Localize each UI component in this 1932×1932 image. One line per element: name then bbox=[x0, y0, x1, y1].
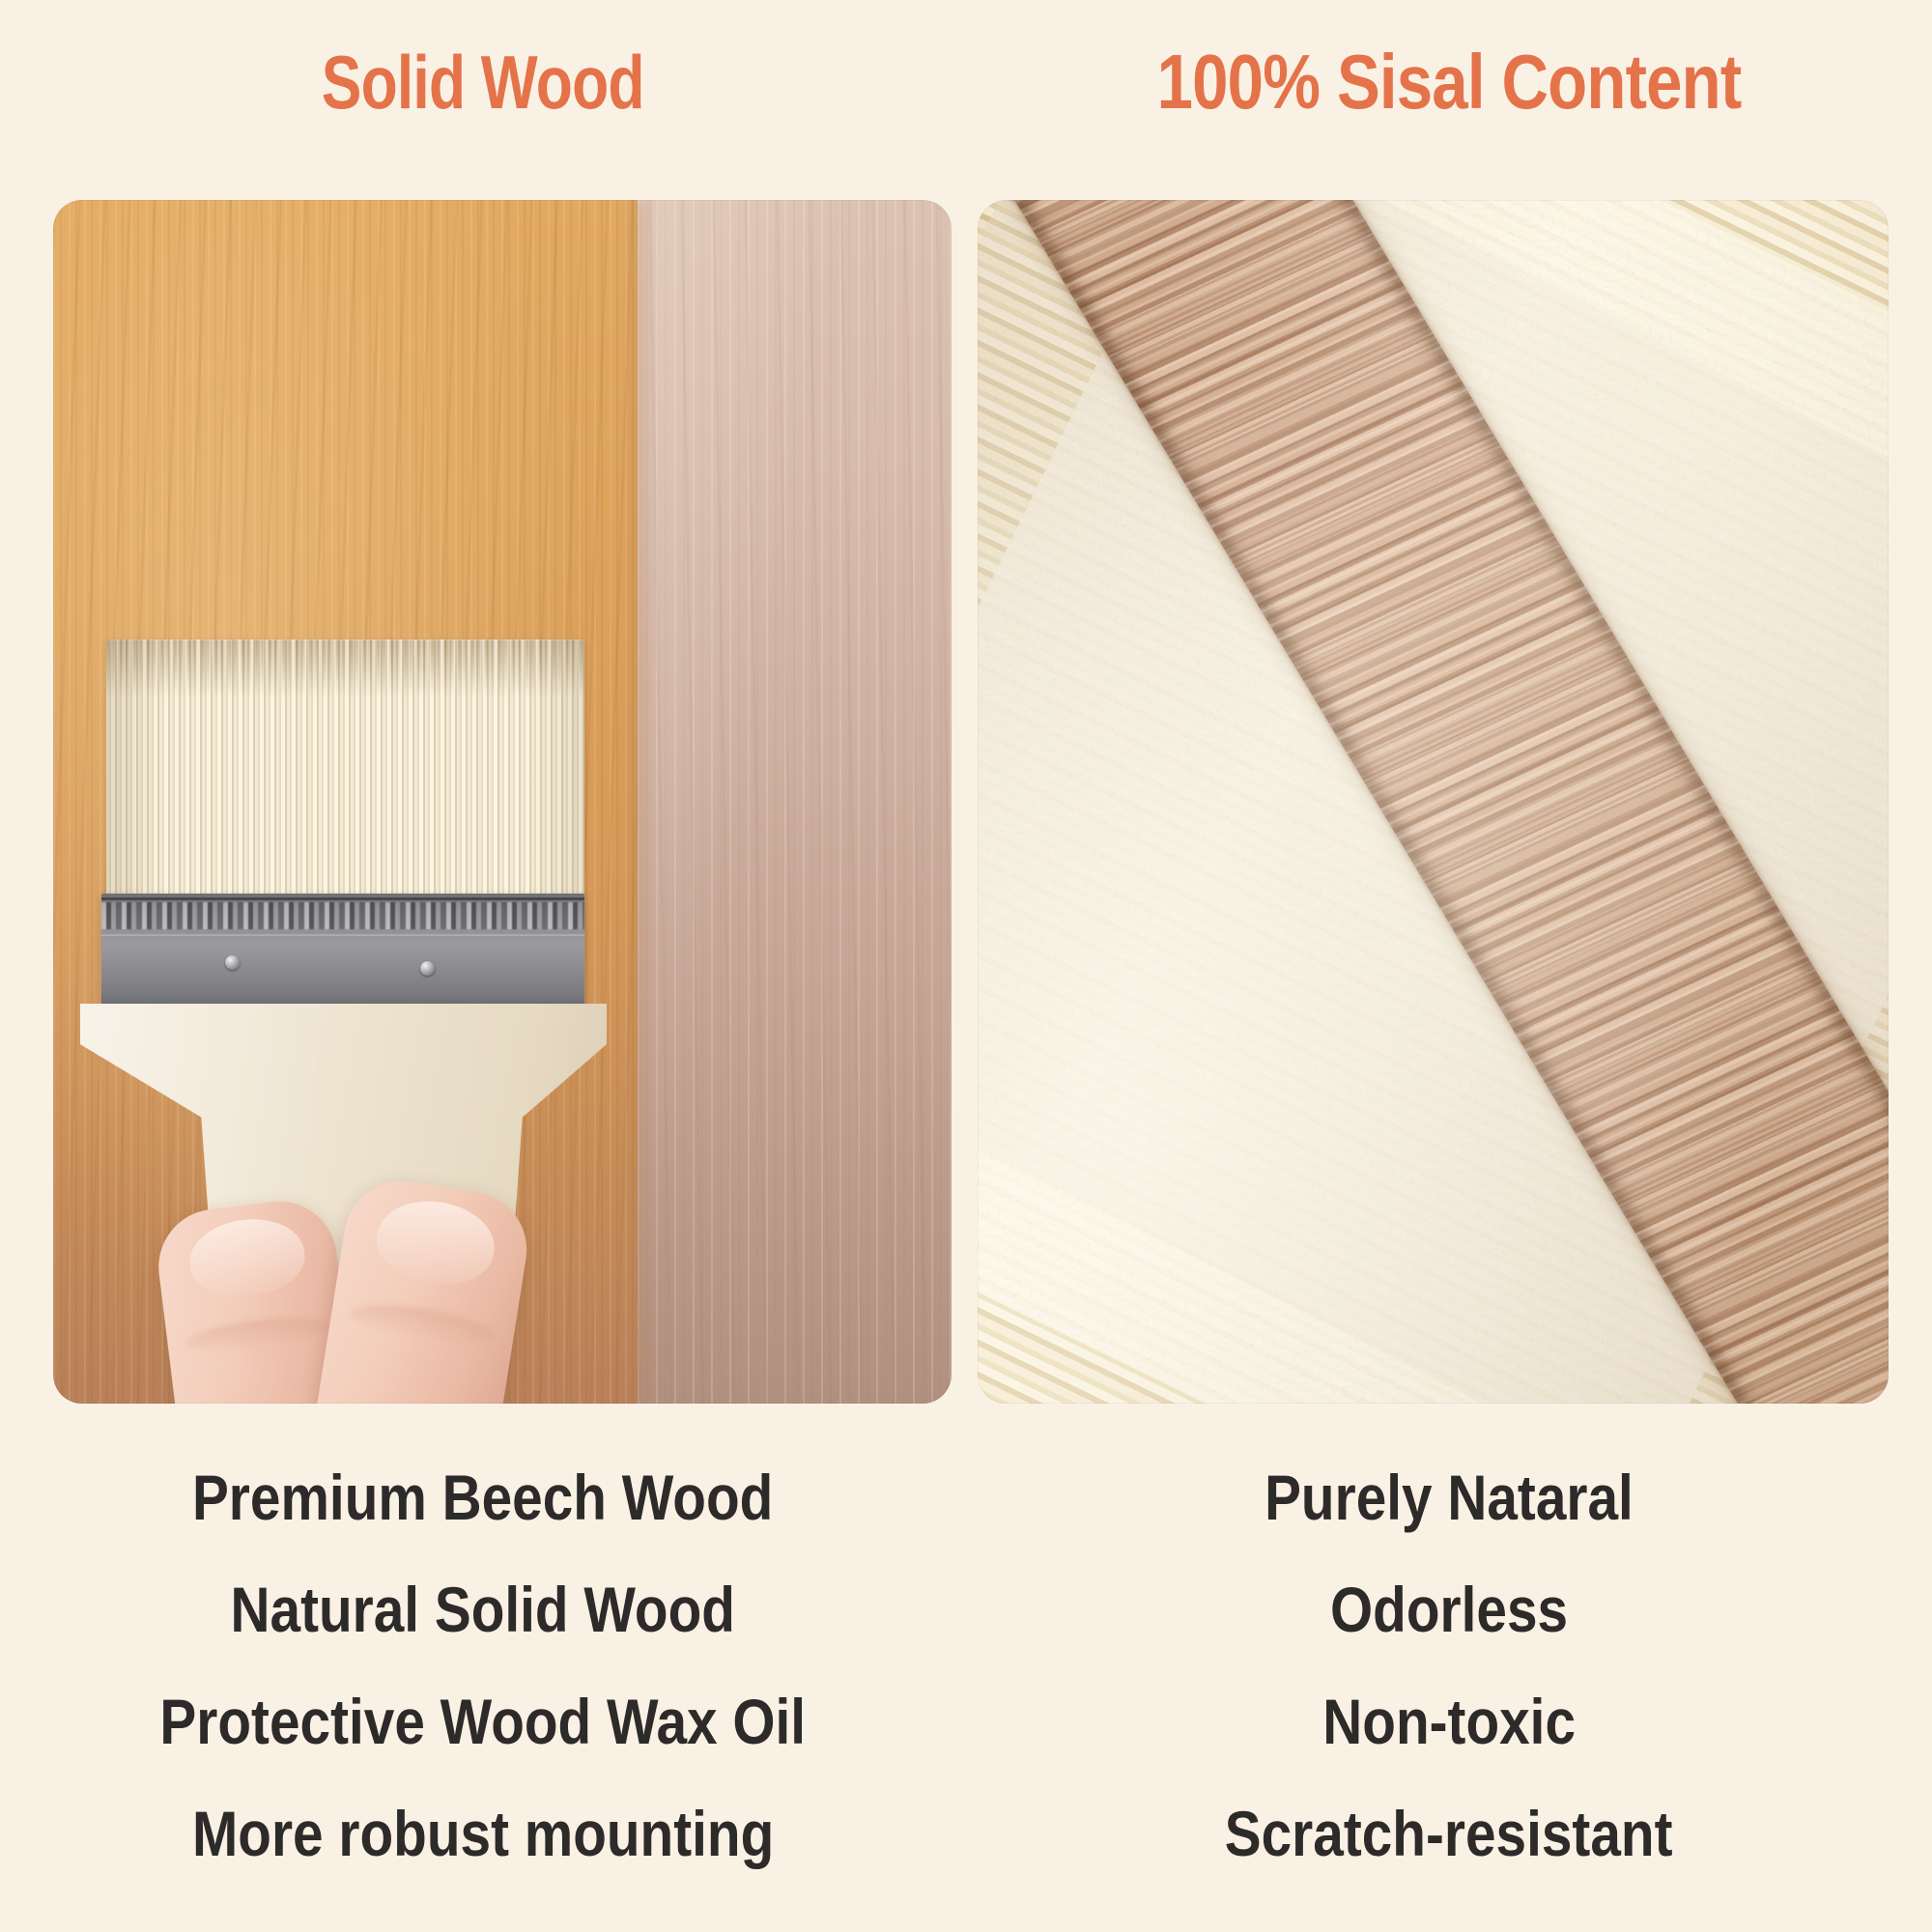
brush-ferrule bbox=[101, 894, 584, 1008]
heading-solid-wood: Solid Wood bbox=[322, 44, 644, 120]
fingernail bbox=[371, 1193, 499, 1291]
feature-item: More robust mounting bbox=[192, 1777, 774, 1889]
ferrule-top-line bbox=[101, 897, 584, 900]
sisal-lighting-overlay bbox=[978, 200, 1889, 1404]
bristle-shading bbox=[106, 639, 584, 895]
fingernail bbox=[185, 1213, 308, 1302]
ferrule-crimp-texture bbox=[101, 902, 584, 929]
sisal-photo-stage bbox=[978, 200, 1889, 1404]
ferrule-rivet-left bbox=[225, 955, 240, 970]
feature-item: Premium Beech Wood bbox=[192, 1441, 773, 1553]
heading-sisal-content: 100% Sisal Content bbox=[1157, 43, 1742, 121]
product-feature-comparison-page: Solid Wood 100% Sisal Content bbox=[0, 0, 1932, 1932]
feature-item: Protective Wood Wax Oil bbox=[160, 1665, 807, 1777]
ferrule-rivet-right bbox=[420, 961, 435, 976]
feature-list-solid-wood: Premium Beech Wood Natural Solid Wood Pr… bbox=[0, 1420, 966, 1932]
raw-wood-area bbox=[638, 200, 952, 1404]
ferrule-highlight-line bbox=[101, 934, 584, 936]
headings-row: Solid Wood 100% Sisal Content bbox=[0, 0, 1932, 164]
feature-item: Odorless bbox=[1330, 1553, 1568, 1665]
image-panels-row bbox=[0, 200, 1932, 1404]
feature-item: Scratch-resistant bbox=[1225, 1777, 1673, 1889]
sisal-weave-closeup-photo bbox=[978, 200, 1889, 1404]
feature-item: Natural Solid Wood bbox=[231, 1553, 735, 1665]
feature-lists-row: Premium Beech Wood Natural Solid Wood Pr… bbox=[0, 1420, 1932, 1932]
knuckle-crease bbox=[184, 1312, 329, 1358]
wood-photo-stage bbox=[53, 200, 952, 1404]
wood-board-paintbrush-photo bbox=[53, 200, 952, 1404]
wood-seam bbox=[621, 200, 658, 1404]
feature-list-sisal-content: Purely Nataral Odorless Non-toxic Scratc… bbox=[966, 1420, 1932, 1932]
knuckle-crease bbox=[348, 1298, 497, 1351]
brush-bristles bbox=[106, 639, 584, 895]
heading-cell-right: 100% Sisal Content bbox=[966, 0, 1932, 164]
feature-item: Non-toxic bbox=[1322, 1665, 1576, 1777]
heading-cell-left: Solid Wood bbox=[0, 0, 966, 164]
feature-item: Purely Nataral bbox=[1264, 1441, 1634, 1553]
